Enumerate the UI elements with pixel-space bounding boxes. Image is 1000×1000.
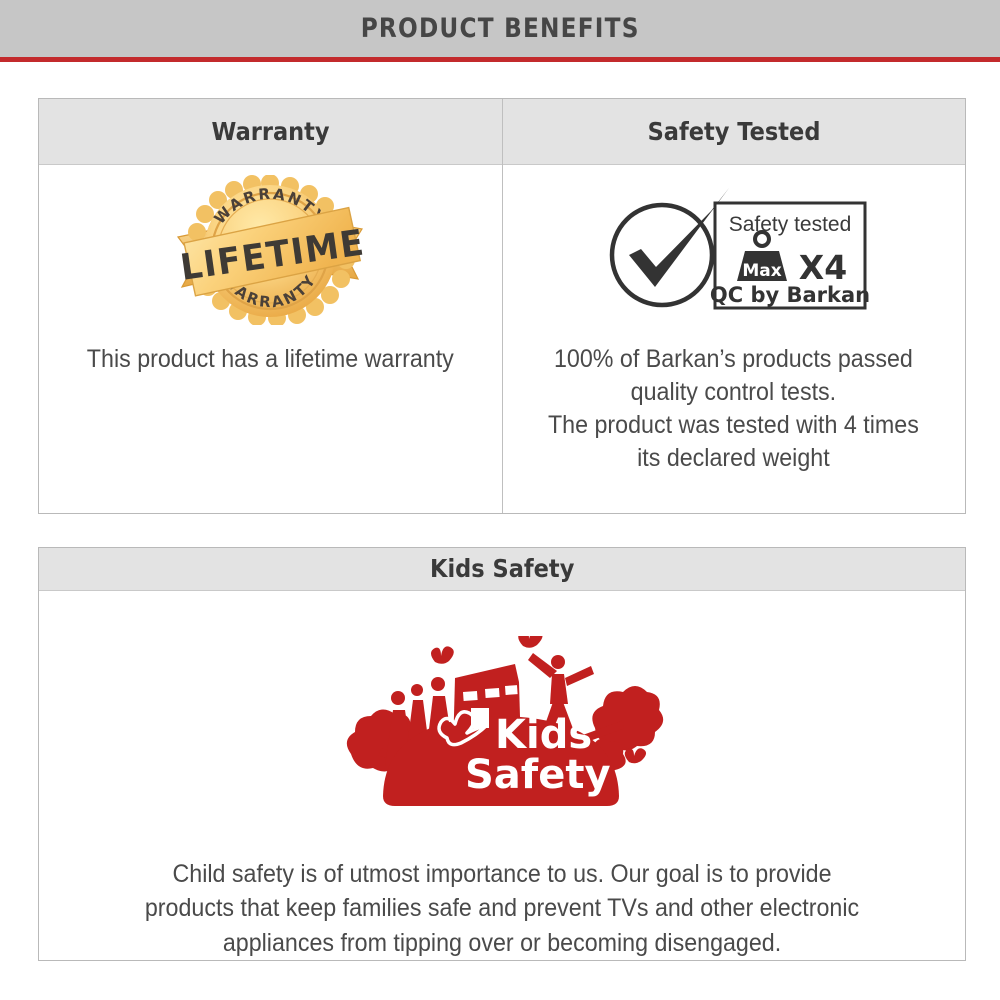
kids-safety-header-label: Kids Safety — [430, 554, 574, 583]
warranty-column-header: Warranty — [39, 99, 502, 165]
qc-by-barkan-label: QC by Barkan — [710, 283, 869, 307]
child-head-d — [551, 655, 565, 669]
lifetime-warranty-seal-icon: WARRANTY WARRANTY LIFETIME — [160, 175, 380, 325]
kids-safety-column-body: Kids Safety Child safety is of utmost im… — [39, 591, 965, 961]
child-head-c — [431, 677, 445, 691]
safety-tested-column: Safety Tested Safety tested — [502, 99, 966, 513]
butterfly-left-icon — [431, 646, 454, 663]
kids-safety-art-slot: Kids Safety — [337, 591, 667, 839]
safety-tested-column-body: Safety tested Max X4 QC by Barkan 100% o… — [503, 165, 966, 513]
warranty-art-slot: WARRANTY WARRANTY LIFETIME — [160, 165, 380, 335]
page-title: PRODUCT BENEFITS — [361, 13, 640, 44]
safety-tested-header-label: Safety Tested — [647, 117, 820, 146]
safety-art-slot: Safety tested Max X4 QC by Barkan — [599, 165, 869, 335]
safety-tested-label: Safety tested — [728, 213, 851, 236]
page-banner: PRODUCT BENEFITS — [0, 0, 1000, 57]
check-circle-icon — [612, 205, 712, 305]
warranty-column: Warranty — [39, 99, 502, 513]
warranty-header-label: Warranty — [211, 117, 329, 146]
safety-tested-column-header: Safety Tested — [503, 99, 966, 165]
child-head-b — [411, 684, 423, 696]
kids-wordmark-line2: Safety — [465, 752, 611, 798]
max-weight-label: Max — [742, 261, 781, 281]
butterfly-right-icon — [625, 748, 646, 763]
benefits-panel: Warranty — [38, 98, 966, 514]
butterfly-top-icon — [518, 636, 542, 648]
safety-tested-check-badge-icon: Safety tested Max X4 QC by Barkan — [599, 183, 869, 318]
kids-safety-logo-icon: Kids Safety — [337, 636, 667, 811]
child-arm-right — [565, 666, 594, 686]
max-weight-icon: Max — [737, 232, 787, 281]
warranty-description: This product has a lifetime warranty — [70, 335, 470, 376]
warranty-column-body: WARRANTY WARRANTY LIFETIME This product … — [39, 165, 502, 513]
kids-safety-column: Kids Safety — [39, 548, 965, 960]
kids-safety-panel: Kids Safety — [38, 547, 966, 961]
child-head-a — [391, 691, 405, 705]
banner-accent-rule — [0, 57, 1000, 62]
kids-safety-description: Child safety is of utmost importance to … — [98, 839, 905, 961]
safety-tested-description: 100% of Barkan’s products passed quality… — [528, 335, 940, 475]
kids-safety-column-header: Kids Safety — [39, 548, 965, 591]
multiplier-label: X4 — [799, 248, 847, 287]
